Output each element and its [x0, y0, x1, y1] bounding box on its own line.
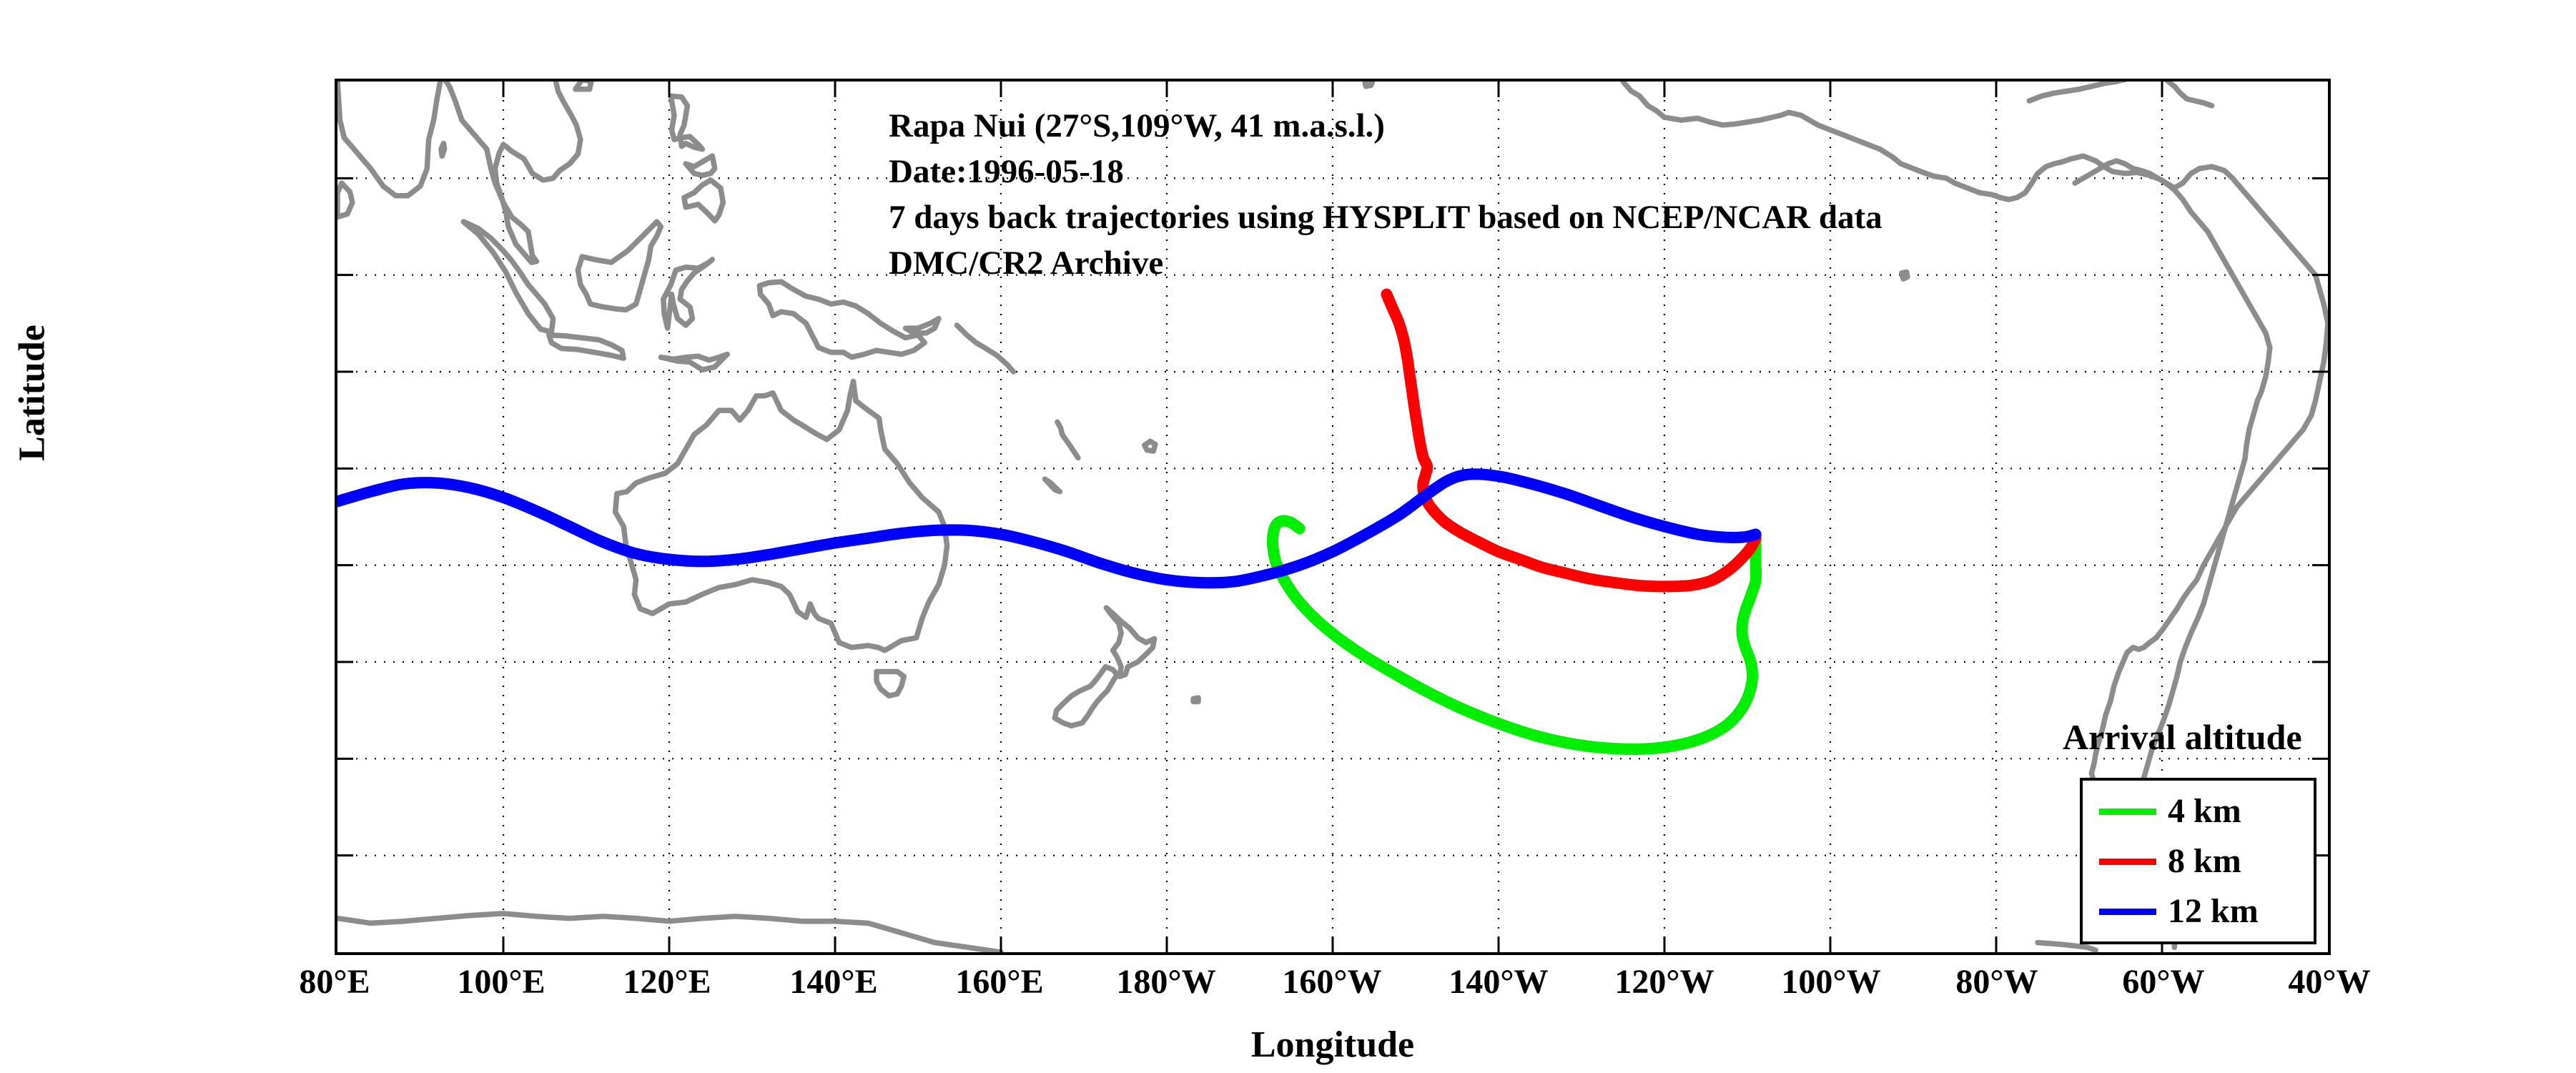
- annotation-block: Rapa Nui (27°S,109°W, 41 m.a.s.l.) Date:…: [889, 103, 1882, 286]
- x-tick-label: 160°E: [907, 962, 1092, 1002]
- x-tick-label: 160°W: [1239, 962, 1425, 1002]
- x-tick-label: 80°E: [242, 962, 428, 1002]
- annotation-station: Rapa Nui (27°S,109°W, 41 m.a.s.l.): [889, 103, 1882, 149]
- legend-swatch-red: [2099, 859, 2156, 865]
- x-tick-label: 120°E: [574, 962, 760, 1002]
- legend-label: 8 km: [2168, 844, 2241, 879]
- trajectory-map-figure: Latitude 20°N 10°N 0° 10°S 20°S 30°S 40°…: [0, 0, 2576, 1073]
- x-tick-label: 80°W: [1904, 962, 2090, 1002]
- legend-swatch-green: [2099, 809, 2156, 815]
- y-axis-label: Latitude: [11, 193, 54, 593]
- x-tick-label: 140°W: [1406, 962, 1592, 1002]
- legend-box: 4 km 8 km 12 km: [2080, 778, 2316, 944]
- x-tick-label: 60°W: [2071, 962, 2256, 1002]
- annotation-method: 7 days back trajectories using HYSPLIT b…: [889, 194, 1882, 240]
- legend-item-8km[interactable]: 8 km: [2083, 836, 2319, 886]
- legend-label: 12 km: [2168, 894, 2259, 929]
- trajectory-group: [337, 295, 1756, 749]
- x-tick-label: 120°W: [1571, 962, 1757, 1002]
- legend-item-12km[interactable]: 12 km: [2083, 886, 2319, 936]
- x-tick-label: 100°E: [408, 962, 594, 1002]
- legend-title: Arrival altitude: [2063, 716, 2302, 758]
- annotation-date: Date:1996-05-18: [889, 149, 1882, 194]
- annotation-archive: DMC/CR2 Archive: [889, 240, 1882, 286]
- x-axis-label: Longitude: [335, 1024, 2331, 1066]
- x-tick-label: 100°W: [1738, 962, 1924, 1002]
- legend-swatch-blue: [2099, 909, 2156, 915]
- x-tick-label: 180°W: [1073, 962, 1259, 1002]
- legend-label: 4 km: [2168, 794, 2241, 829]
- x-tick-label: 140°E: [741, 962, 927, 1002]
- legend-item-4km[interactable]: 4 km: [2083, 786, 2319, 836]
- x-tick-label: 40°W: [2236, 962, 2422, 1002]
